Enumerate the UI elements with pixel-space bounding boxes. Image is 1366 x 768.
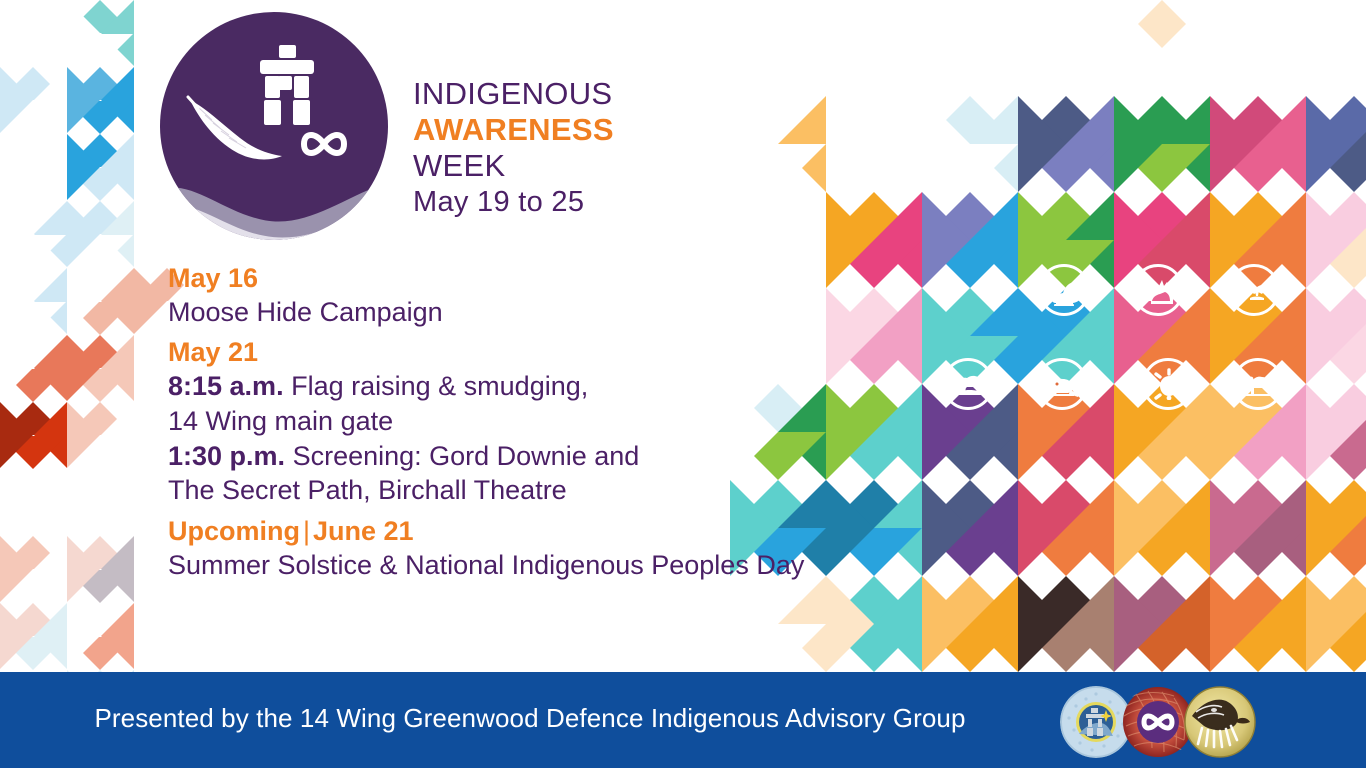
event-line: 14 Wing main gate (168, 404, 908, 439)
mosaic-triangle (1114, 576, 1162, 672)
mosaic-triangle (134, 469, 167, 535)
title-line-week: WEEK (413, 150, 614, 181)
mosaic-cell (67, 335, 134, 402)
mosaic-triangle (134, 0, 167, 66)
event-line: 8:15 a.m. Flag raising & smudging, (168, 369, 908, 404)
mosaic-cell (1018, 96, 1114, 192)
mosaic-triangle (1018, 480, 1066, 576)
wolf-icon (1132, 264, 1184, 316)
mosaic-triangle (134, 402, 167, 468)
indigenous-awareness-week-logo (160, 12, 388, 240)
mosaic-triangle (1210, 0, 1258, 96)
event-line: The Secret Path, Birchall Theatre (168, 473, 908, 508)
event-line: 1:30 p.m. Screening: Gord Downie and (168, 439, 908, 474)
mosaic-cell (0, 201, 67, 268)
event-time: 1:30 p.m. (168, 441, 285, 471)
mosaic-triangle (67, 268, 100, 334)
eagle-icon (1228, 264, 1280, 316)
event-date: May 21 (168, 336, 908, 369)
mosaic-triangle (1018, 96, 1066, 192)
mosaic-triangle (922, 96, 970, 192)
mosaic-triangle (826, 576, 874, 672)
mosaic-cell (826, 576, 922, 672)
mosaic-cell (0, 0, 67, 67)
event-time: 8:15 a.m. (168, 371, 284, 401)
mosaic-triangle (0, 67, 33, 133)
mosaic-cell (67, 469, 134, 536)
mosaic-triangle (826, 96, 874, 192)
metis-infinity-icon (282, 118, 366, 170)
mosaic-cell (1306, 384, 1366, 480)
mosaic-cell (1114, 576, 1210, 672)
mosaic-cell (0, 402, 67, 469)
mosaic-cell (730, 576, 826, 672)
mosaic-cell (67, 268, 134, 335)
mosaic-cell (826, 96, 922, 192)
mosaic-cell (922, 576, 1018, 672)
mosaic-triangle (134, 536, 167, 602)
mosaic-triangle (922, 576, 970, 672)
mosaic-triangle (1306, 192, 1354, 288)
mosaic-triangle (67, 603, 100, 669)
mosaic-cell (67, 201, 134, 268)
event-group-may21: May 21 8:15 a.m. Flag raising & smudging… (168, 336, 908, 507)
mosaic-triangle (1306, 288, 1354, 384)
mosaic-cell (922, 192, 1018, 288)
mosaic-cell (1306, 288, 1366, 384)
mosaic-triangle (1114, 480, 1162, 576)
mosaic-cell (1306, 96, 1366, 192)
mosaic-cell (134, 603, 200, 670)
mosaic-triangle (67, 0, 100, 66)
mosaic-cell (1306, 0, 1366, 96)
mosaic-cell (0, 134, 67, 201)
mosaic-cell (1018, 480, 1114, 576)
title-line-awareness: AWARENESS (413, 114, 614, 145)
mosaic-cell (1210, 0, 1306, 96)
mosaic-cell (1114, 0, 1210, 96)
mosaic-triangle (0, 268, 33, 334)
event-group-may16: May 16 Moose Hide Campaign (168, 262, 908, 329)
mosaic-triangle (134, 335, 167, 401)
mosaic-triangle (1306, 384, 1354, 480)
spacer (168, 329, 908, 336)
partner-logo-group (1060, 678, 1290, 762)
mosaic-triangle (1306, 96, 1354, 192)
upcoming-separator: | (300, 516, 313, 546)
bear-icon (1232, 358, 1284, 410)
mosaic-triangle (0, 536, 33, 602)
mosaic-triangle (1306, 0, 1354, 96)
mosaic-cell (67, 0, 134, 67)
mosaic-cell (0, 469, 67, 536)
raven-icon (1038, 264, 1090, 316)
mosaic-cell (1210, 96, 1306, 192)
mosaic-cell (1306, 192, 1366, 288)
page-title: INDIGENOUS AWARENESS WEEK May 19 to 25 (413, 78, 614, 217)
upcoming-label: Upcoming (168, 516, 300, 546)
event-date: May 16 (168, 262, 908, 295)
mosaic-triangle (922, 480, 970, 576)
turtle-icon (1142, 358, 1194, 410)
poster-canvas: INDIGENOUS AWARENESS WEEK May 19 to 25 M… (0, 0, 1366, 768)
mosaic-triangle (67, 335, 100, 401)
mosaic-cell (1114, 96, 1210, 192)
mosaic-triangle (1306, 576, 1354, 672)
mosaic-cell (1306, 576, 1366, 672)
mosaic-cell (0, 603, 67, 670)
mosaic-cell (1210, 576, 1306, 672)
upcoming-description: Summer Solstice & National Indigenous Pe… (168, 548, 908, 583)
mosaic-triangle (67, 134, 100, 200)
mosaic-triangle (922, 192, 970, 288)
mosaic-triangle (1210, 96, 1258, 192)
mosaic-cell (0, 268, 67, 335)
bison-icon (942, 358, 994, 410)
event-text: Flag raising & smudging, (291, 371, 588, 401)
mosaic-cell (922, 480, 1018, 576)
presented-by-text: Presented by the 14 Wing Greenwood Defen… (0, 703, 1060, 734)
mosaic-cell (67, 536, 134, 603)
event-line: Moose Hide Campaign (168, 295, 908, 330)
mosaic-triangle (0, 402, 33, 468)
mosaic-triangle (134, 268, 167, 334)
mosaic-triangle (67, 536, 100, 602)
mosaic-cell (1018, 576, 1114, 672)
mosaic-triangle (67, 469, 100, 535)
mosaic-triangle (67, 201, 100, 267)
mosaic-cell (1210, 480, 1306, 576)
mosaic-cell (67, 402, 134, 469)
first-nations-eagle-emblem (1184, 686, 1256, 758)
mosaic-cell (922, 96, 1018, 192)
first-nations-emblem-icon (1184, 686, 1256, 758)
mosaic-triangle (0, 201, 33, 267)
mosaic-cell (1114, 480, 1210, 576)
mosaic-triangle (0, 134, 33, 200)
mosaic-triangle (1114, 0, 1162, 96)
beaver-icon (1036, 358, 1088, 410)
mosaic-cell (0, 536, 67, 603)
mosaic-cell (67, 134, 134, 201)
mosaic-triangle (1210, 576, 1258, 672)
mosaic-triangle (0, 335, 33, 401)
mosaic-cell (0, 67, 67, 134)
upcoming-date: June 21 (313, 516, 414, 546)
mosaic-triangle (1306, 480, 1354, 576)
mosaic-triangle (0, 469, 33, 535)
event-text: Screening: Gord Downie and (293, 441, 640, 471)
mosaic-triangle (134, 603, 167, 669)
mosaic-triangle (67, 67, 100, 133)
mosaic-triangle (0, 0, 33, 66)
mosaic-cell (67, 67, 134, 134)
mosaic-triangle (1114, 96, 1162, 192)
mosaic-triangle (67, 402, 100, 468)
title-line-dates: May 19 to 25 (413, 188, 614, 217)
mosaic-triangle (1018, 576, 1066, 672)
mosaic-triangle (0, 603, 33, 669)
mosaic-cell (67, 603, 134, 670)
mosaic-cell (730, 96, 826, 192)
eagle-feather-icon (182, 94, 288, 166)
mosaic-triangle (730, 576, 778, 672)
upcoming-header: Upcoming|June 21 (168, 515, 908, 548)
mosaic-cell (1306, 480, 1366, 576)
mosaic-cell (0, 335, 67, 402)
event-list: May 16 Moose Hide Campaign May 21 8:15 a… (168, 262, 908, 582)
mosaic-triangle (1210, 480, 1258, 576)
title-line-indigenous: INDIGENOUS (413, 78, 614, 109)
mosaic-triangle (730, 96, 778, 192)
spacer (168, 508, 908, 515)
event-group-upcoming: Upcoming|June 21 Summer Solstice & Natio… (168, 515, 908, 582)
